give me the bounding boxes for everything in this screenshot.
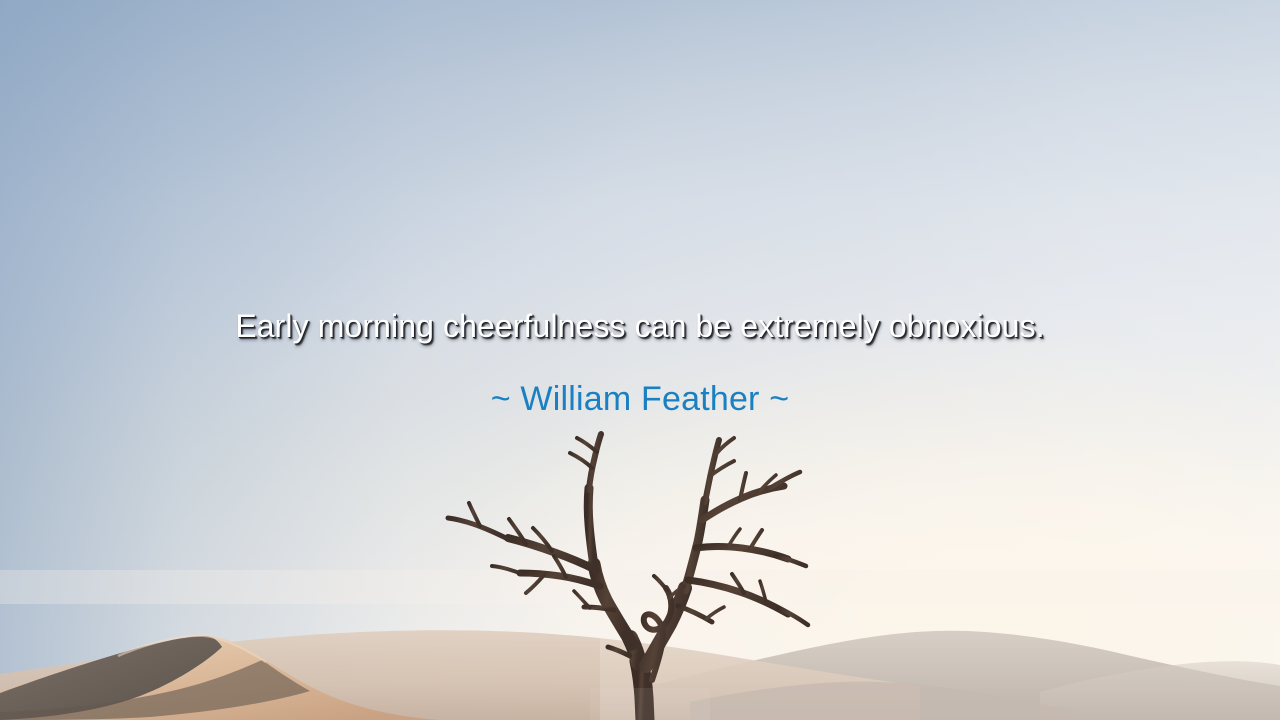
- quote-image-canvas: Early morning cheerfulness can be extrem…: [0, 0, 1280, 720]
- author-attribution: ~ William Feather ~: [0, 378, 1280, 420]
- quote-text: Early morning cheerfulness can be extrem…: [0, 306, 1280, 346]
- dead-tree-icon: [440, 430, 840, 720]
